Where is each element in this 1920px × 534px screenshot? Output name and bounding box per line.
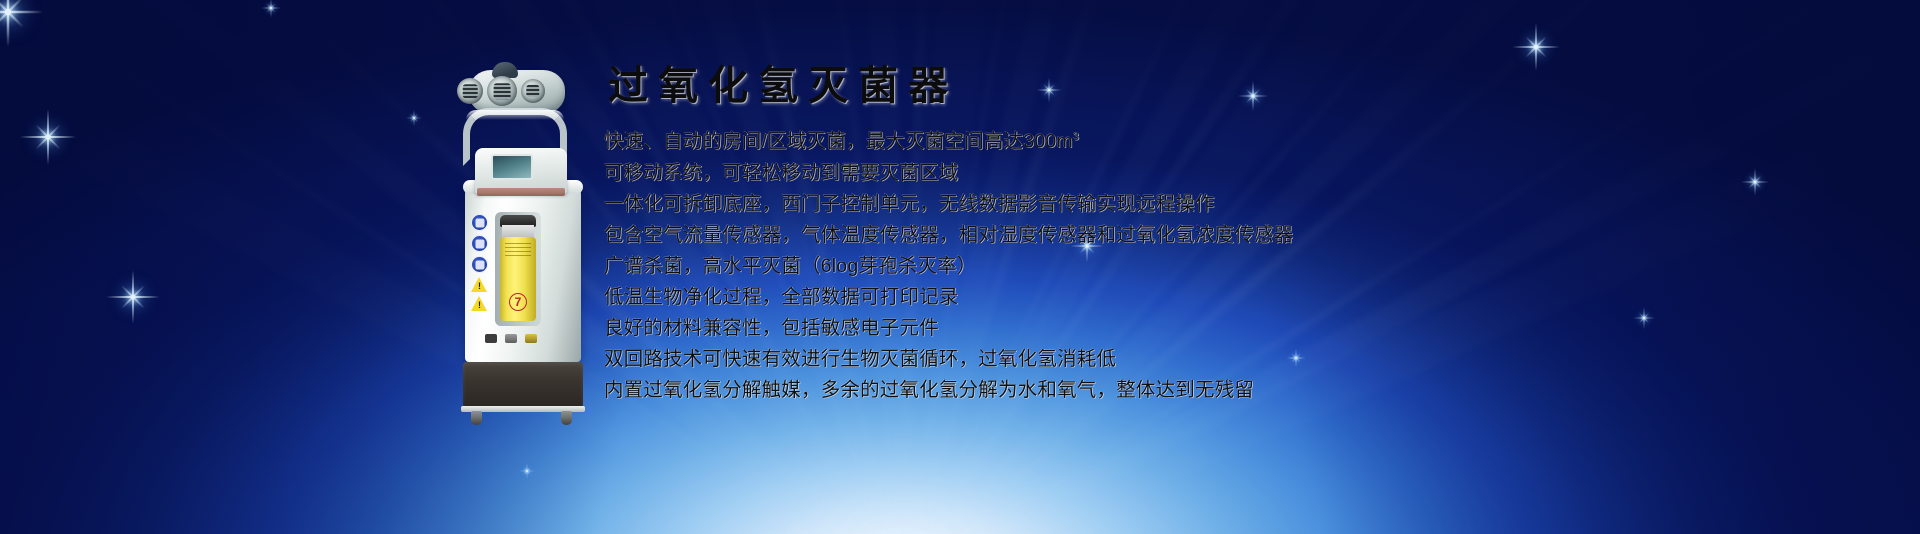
product-image: 7	[447, 62, 607, 380]
feature-item: 快速、自动的房间/区域灭菌，最大灭菌空间高达300m3	[604, 122, 1804, 158]
nozzle-left-icon	[457, 78, 483, 104]
feature-text: 双回路技术可快速有效进行生物灭菌循环，过氧化氢消耗低	[604, 348, 1116, 370]
feature-item: 良好的材料兼容性，包括敏感电子元件	[604, 313, 1804, 344]
feature-text: 快速、自动的房间/区域灭菌，最大灭菌空间高达300m	[604, 131, 1073, 153]
control-button-1	[485, 334, 497, 343]
feature-item: 可移动系统，可轻松移动到需要灭菌区域	[604, 158, 1804, 189]
feature-item: 广谱杀菌，高水平灭菌（6log芽孢杀灭率）	[604, 251, 1804, 282]
feature-text: 低温生物净化过程，全部数据可打印记录	[604, 286, 959, 308]
bottle-label	[505, 243, 531, 259]
warning-decal-group	[471, 214, 493, 315]
chemical-bottle: 7	[500, 237, 536, 321]
feature-item: 包含空气流量传感器，气体温度传感器，相对湿度传感器和过氧化氢浓度传感器	[604, 220, 1804, 251]
feature-text: 可移动系统，可轻松移动到需要灭菌区域	[604, 162, 959, 184]
warning-icon	[471, 277, 488, 292]
control-button-2	[505, 334, 517, 343]
nozzle-right-icon	[521, 79, 545, 103]
feature-text: 内置过氧化氢分解触媒，多余的过氧化氢分解为水和氧气，整体达到无残留	[604, 379, 1254, 401]
no-person-icon	[471, 235, 488, 252]
no-entry-icon	[471, 214, 488, 231]
product-banner: 7 过氧化氢灭菌器 快速、自动的房间/区域灭菌，最大灭菌空间高达300m3可移动…	[0, 0, 1920, 534]
device-base	[463, 362, 583, 408]
bottle-window: 7	[495, 212, 541, 326]
feature-item: 低温生物净化过程，全部数据可打印记录	[604, 282, 1804, 313]
caster-wheel-left	[471, 411, 482, 425]
feature-list: 快速、自动的房间/区域灭菌，最大灭菌空间高达300m3可移动系统，可轻松移动到需…	[604, 122, 1804, 406]
feature-item: 内置过氧化氢分解触媒，多余的过氧化氢分解为水和氧气，整体达到无残留	[604, 375, 1804, 406]
wear-mask-icon	[471, 256, 488, 273]
warning-icon	[471, 296, 488, 311]
console-strip	[477, 188, 565, 196]
caster-wheel-right	[561, 411, 572, 425]
feature-text: 广谱杀菌，高水平灭菌（6log芽孢杀灭率）	[604, 255, 977, 277]
console-screen	[491, 154, 533, 180]
feature-item: 双回路技术可快速有效进行生物灭菌循环，过氧化氢消耗低	[604, 344, 1804, 375]
bottle-number: 7	[509, 293, 527, 311]
feature-text: 一体化可拆卸底座，西门子控制单元，无线数据影音传输实现远程操作	[604, 193, 1215, 215]
feature-text: 良好的材料兼容性，包括敏感电子元件	[604, 317, 939, 339]
copy-block: 过氧化氢灭菌器 快速、自动的房间/区域灭菌，最大灭菌空间高达300m3可移动系统…	[604, 66, 1804, 406]
feature-item: 一体化可拆卸底座，西门子控制单元，无线数据影音传输实现远程操作	[604, 189, 1804, 220]
feature-superscript: 3	[1073, 131, 1079, 143]
feature-text: 包含空气流量传感器，气体温度传感器，相对湿度传感器和过氧化氢浓度传感器	[604, 224, 1294, 246]
nozzle-center-icon	[487, 76, 517, 106]
page-title: 过氧化氢灭菌器	[608, 66, 1804, 106]
control-button-3	[525, 334, 537, 343]
